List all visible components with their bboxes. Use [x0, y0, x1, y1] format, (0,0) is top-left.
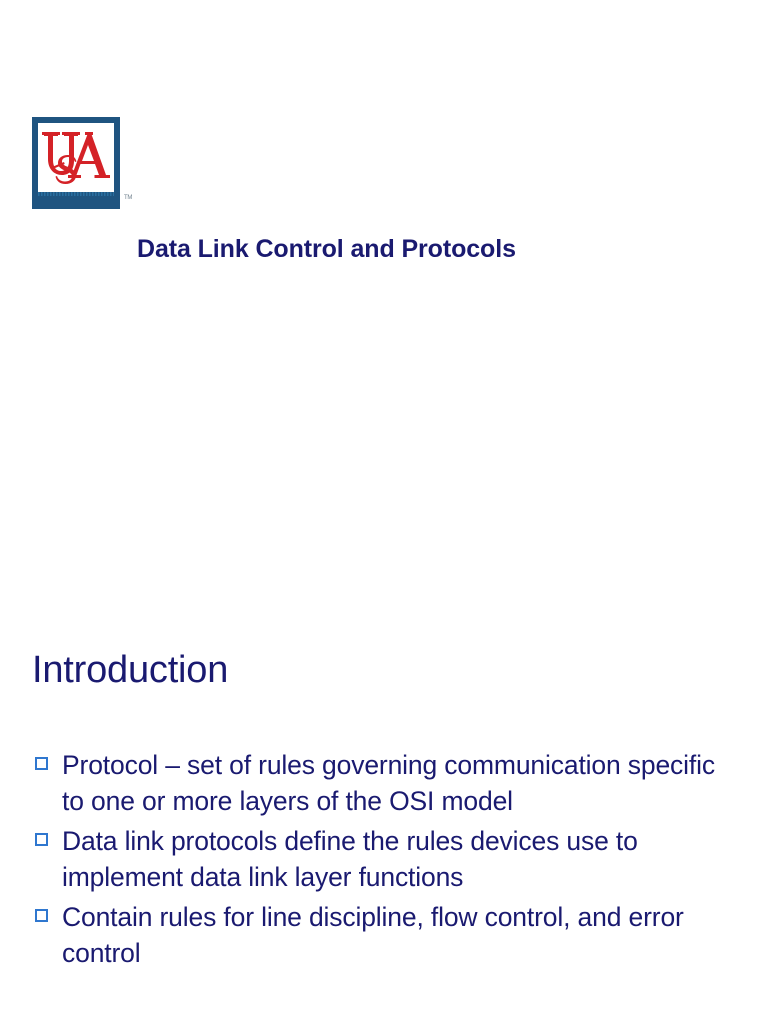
list-item: Protocol – set of rules governing commun… — [33, 748, 743, 819]
square-bullet-icon — [35, 757, 48, 770]
usa-logo-letters-icon — [38, 123, 114, 192]
bullet-list: Protocol – set of rules governing commun… — [33, 748, 743, 976]
trademark-symbol: TM — [124, 195, 132, 201]
square-bullet-icon — [35, 909, 48, 922]
usa-logo-dotted-rule — [38, 192, 114, 196]
usa-logo: TM — [32, 117, 120, 209]
list-item: Contain rules for line discipline, flow … — [33, 900, 743, 971]
square-bullet-icon — [35, 833, 48, 846]
list-item: Data link protocols define the rules dev… — [33, 824, 743, 895]
list-item-text: Contain rules for line discipline, flow … — [62, 900, 743, 971]
list-item-text: Protocol – set of rules governing commun… — [62, 748, 743, 819]
list-item-text: Data link protocols define the rules dev… — [62, 824, 743, 895]
presentation-slide: TM Data Link Control and Protocols Intro… — [0, 0, 768, 1024]
usa-logo-interior — [38, 123, 114, 192]
page-title: Data Link Control and Protocols — [137, 232, 516, 266]
usa-logo-frame — [32, 117, 120, 209]
section-heading: Introduction — [32, 646, 228, 694]
